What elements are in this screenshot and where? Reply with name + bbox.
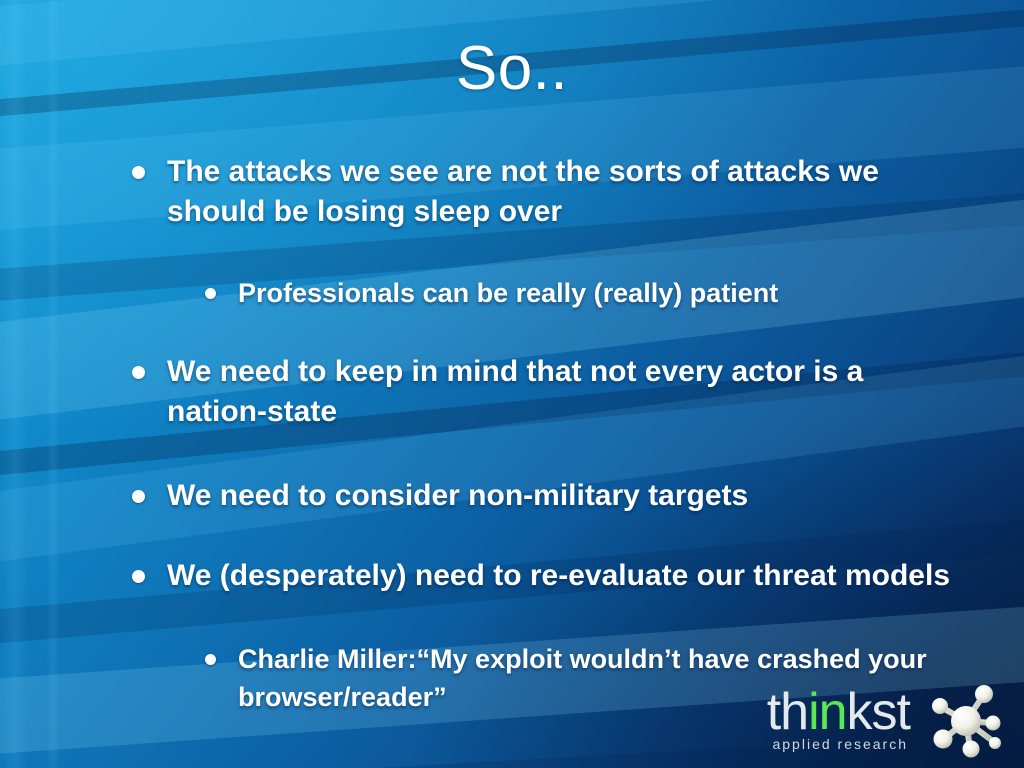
logo-word-part3: kst bbox=[847, 683, 910, 741]
bullet-dot-icon bbox=[205, 654, 216, 665]
logo-word-part1: th bbox=[767, 683, 808, 741]
bullet-dot-icon bbox=[132, 166, 145, 179]
logo-wordmark-block: thinkst applied research bbox=[767, 688, 910, 751]
bullet-text: We (desperately) need to re-evaluate our… bbox=[167, 556, 954, 596]
bullet-item: Professionals can be really (really) pat… bbox=[0, 274, 1024, 312]
bullet-dot-icon bbox=[132, 570, 145, 583]
logo-tagline: applied research bbox=[767, 736, 910, 752]
bullet-item: The attacks we see are not the sorts of … bbox=[0, 152, 1024, 232]
spacer bbox=[0, 250, 1024, 274]
bullet-dot-icon bbox=[205, 288, 216, 299]
presentation-slide: So.. The attacks we see are not the sort… bbox=[0, 0, 1024, 768]
bullet-text: We need to consider non-military targets bbox=[167, 476, 954, 516]
spacer bbox=[0, 450, 1024, 476]
molecule-icon bbox=[924, 680, 1008, 760]
logo-wordmark: thinkst bbox=[767, 688, 910, 737]
slide-body: The attacks we see are not the sorts of … bbox=[0, 152, 1024, 734]
bullet-text: The attacks we see are not the sorts of … bbox=[167, 152, 954, 232]
bullet-text: Professionals can be really (really) pat… bbox=[238, 274, 934, 312]
bullet-item: We need to consider non-military targets bbox=[0, 476, 1024, 516]
thinkst-logo: thinkst applied research bbox=[767, 680, 1008, 760]
spacer bbox=[0, 330, 1024, 352]
bullet-text: We need to keep in mind that not every a… bbox=[167, 352, 954, 432]
bullet-item: We need to keep in mind that not every a… bbox=[0, 352, 1024, 432]
bullet-dot-icon bbox=[132, 490, 145, 503]
spacer bbox=[0, 614, 1024, 640]
bullet-dot-icon bbox=[132, 366, 145, 379]
logo-word-part2: in bbox=[808, 683, 846, 741]
spacer bbox=[0, 534, 1024, 556]
slide-title: So.. bbox=[0, 36, 1024, 101]
bullet-item: We (desperately) need to re-evaluate our… bbox=[0, 556, 1024, 596]
